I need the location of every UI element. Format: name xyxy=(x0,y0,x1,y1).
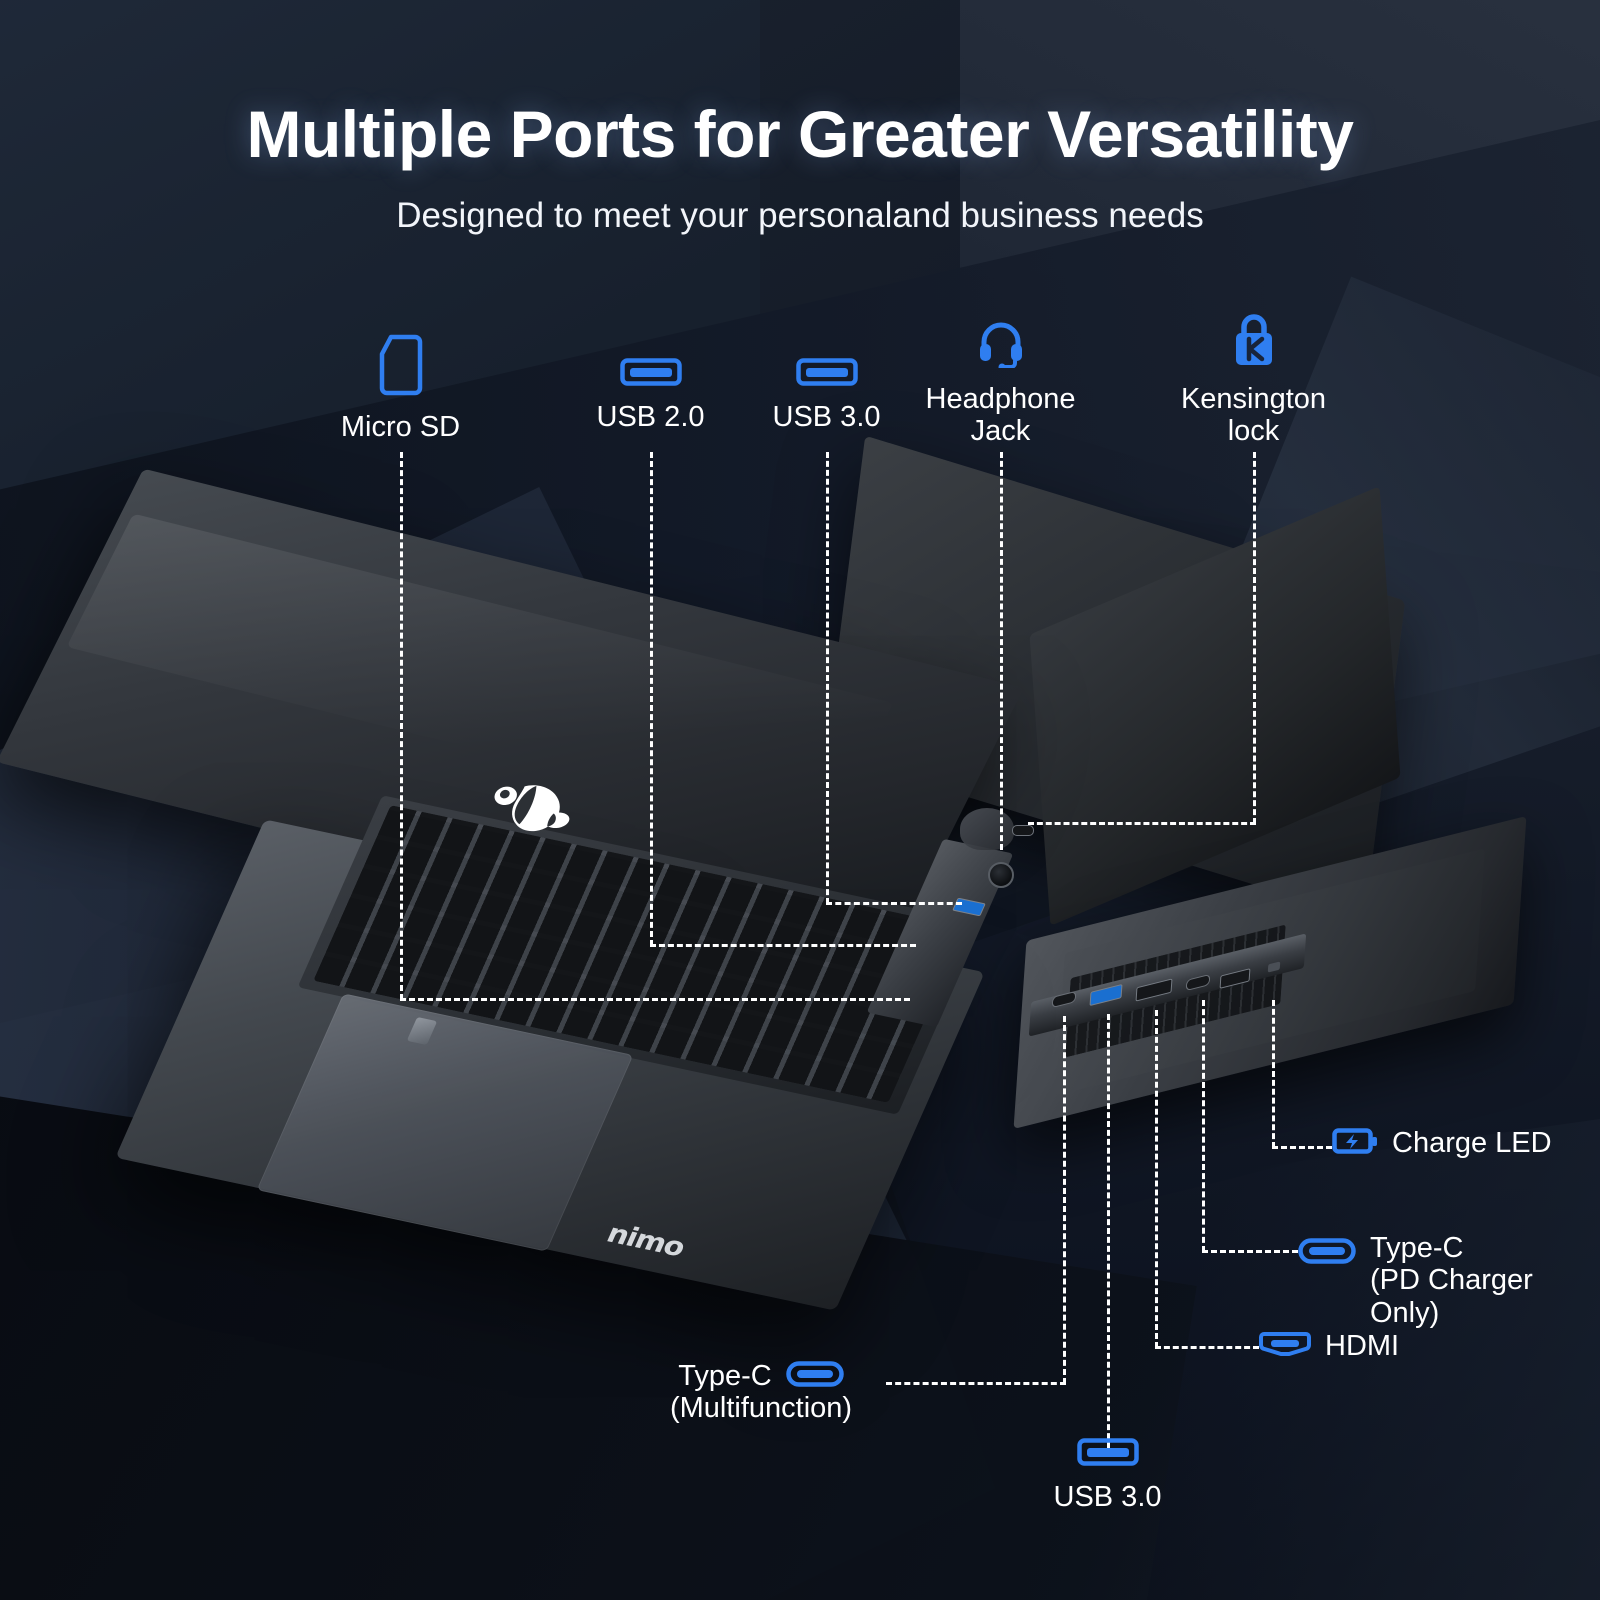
leader-hdmi-horizontal xyxy=(1155,1346,1259,1349)
callout-label-line2: (Multifunction) xyxy=(636,1392,886,1424)
port-type-c-left xyxy=(1012,825,1034,836)
infographic-canvas: Multiple Ports for Greater Versatility D… xyxy=(0,0,1600,1600)
leader-kensington-horizontal xyxy=(1028,822,1256,825)
leader-micro-sd-vertical xyxy=(400,452,403,1000)
port-headphone-jack xyxy=(988,862,1014,888)
leader-usb2-horizontal xyxy=(650,944,916,947)
usb-c-icon xyxy=(786,1361,844,1392)
callout-hdmi[interactable]: HDMI xyxy=(1259,1330,1399,1363)
callout-charge-led[interactable]: Charge LED xyxy=(1332,1126,1552,1161)
leader-usb3-bottom-vertical xyxy=(1107,1014,1110,1448)
callout-label: Charge LED xyxy=(1392,1127,1552,1159)
hdmi-icon xyxy=(1259,1330,1311,1363)
callout-usb-2[interactable]: USB 2.0 xyxy=(548,358,753,433)
leader-type-c-pd-horizontal xyxy=(1202,1250,1298,1253)
usb-a-icon xyxy=(796,358,858,391)
leader-type-c-pd-vertical xyxy=(1202,1000,1205,1252)
leader-usb3-top-horizontal xyxy=(826,902,962,905)
leader-charge-led-vertical xyxy=(1272,1000,1275,1148)
usb-a-icon xyxy=(1077,1438,1139,1471)
callout-label: Micro SD xyxy=(298,411,503,443)
headset-icon xyxy=(977,318,1025,373)
callout-label: Headphone Jack xyxy=(898,383,1103,448)
leader-usb2-vertical xyxy=(650,452,653,946)
micro-sd-icon xyxy=(378,334,424,401)
leader-charge-led-horizontal xyxy=(1272,1146,1332,1149)
leader-kensington-vertical xyxy=(1253,452,1256,824)
callout-label: Kensington lock xyxy=(1151,383,1356,448)
leader-hdmi-vertical xyxy=(1155,1010,1158,1348)
laptop-left-hinge xyxy=(960,808,1014,850)
leader-usb3-top-vertical xyxy=(826,452,829,904)
leader-type-c-multi-vertical xyxy=(1063,1016,1066,1384)
callout-kensington-lock[interactable]: Kensington lock xyxy=(1151,310,1356,448)
callout-usb-3-bottom[interactable]: USB 3.0 xyxy=(1005,1438,1210,1513)
leader-micro-sd-horizontal xyxy=(400,998,910,1001)
leader-type-c-multi-horizontal xyxy=(886,1382,1066,1385)
kensington-lock-icon xyxy=(1231,310,1277,373)
callout-type-c-multifunction[interactable]: Type-C (Multifunction) xyxy=(636,1360,886,1425)
callout-label: USB 3.0 xyxy=(1005,1481,1210,1513)
battery-charging-icon xyxy=(1332,1126,1378,1161)
callout-micro-sd[interactable]: Micro SD xyxy=(298,334,503,443)
callout-label: USB 2.0 xyxy=(548,401,753,433)
usb-c-icon xyxy=(1298,1238,1356,1269)
callout-type-c-pd[interactable]: Type-C (PD Charger Only) xyxy=(1298,1232,1600,1329)
leader-headphone-vertical xyxy=(1000,452,1003,850)
callout-headphone-jack[interactable]: Headphone Jack xyxy=(898,318,1103,448)
usb-a-icon xyxy=(620,358,682,391)
callout-label: HDMI xyxy=(1325,1330,1399,1362)
callout-label: Type-C (PD Charger Only) xyxy=(1370,1232,1600,1329)
